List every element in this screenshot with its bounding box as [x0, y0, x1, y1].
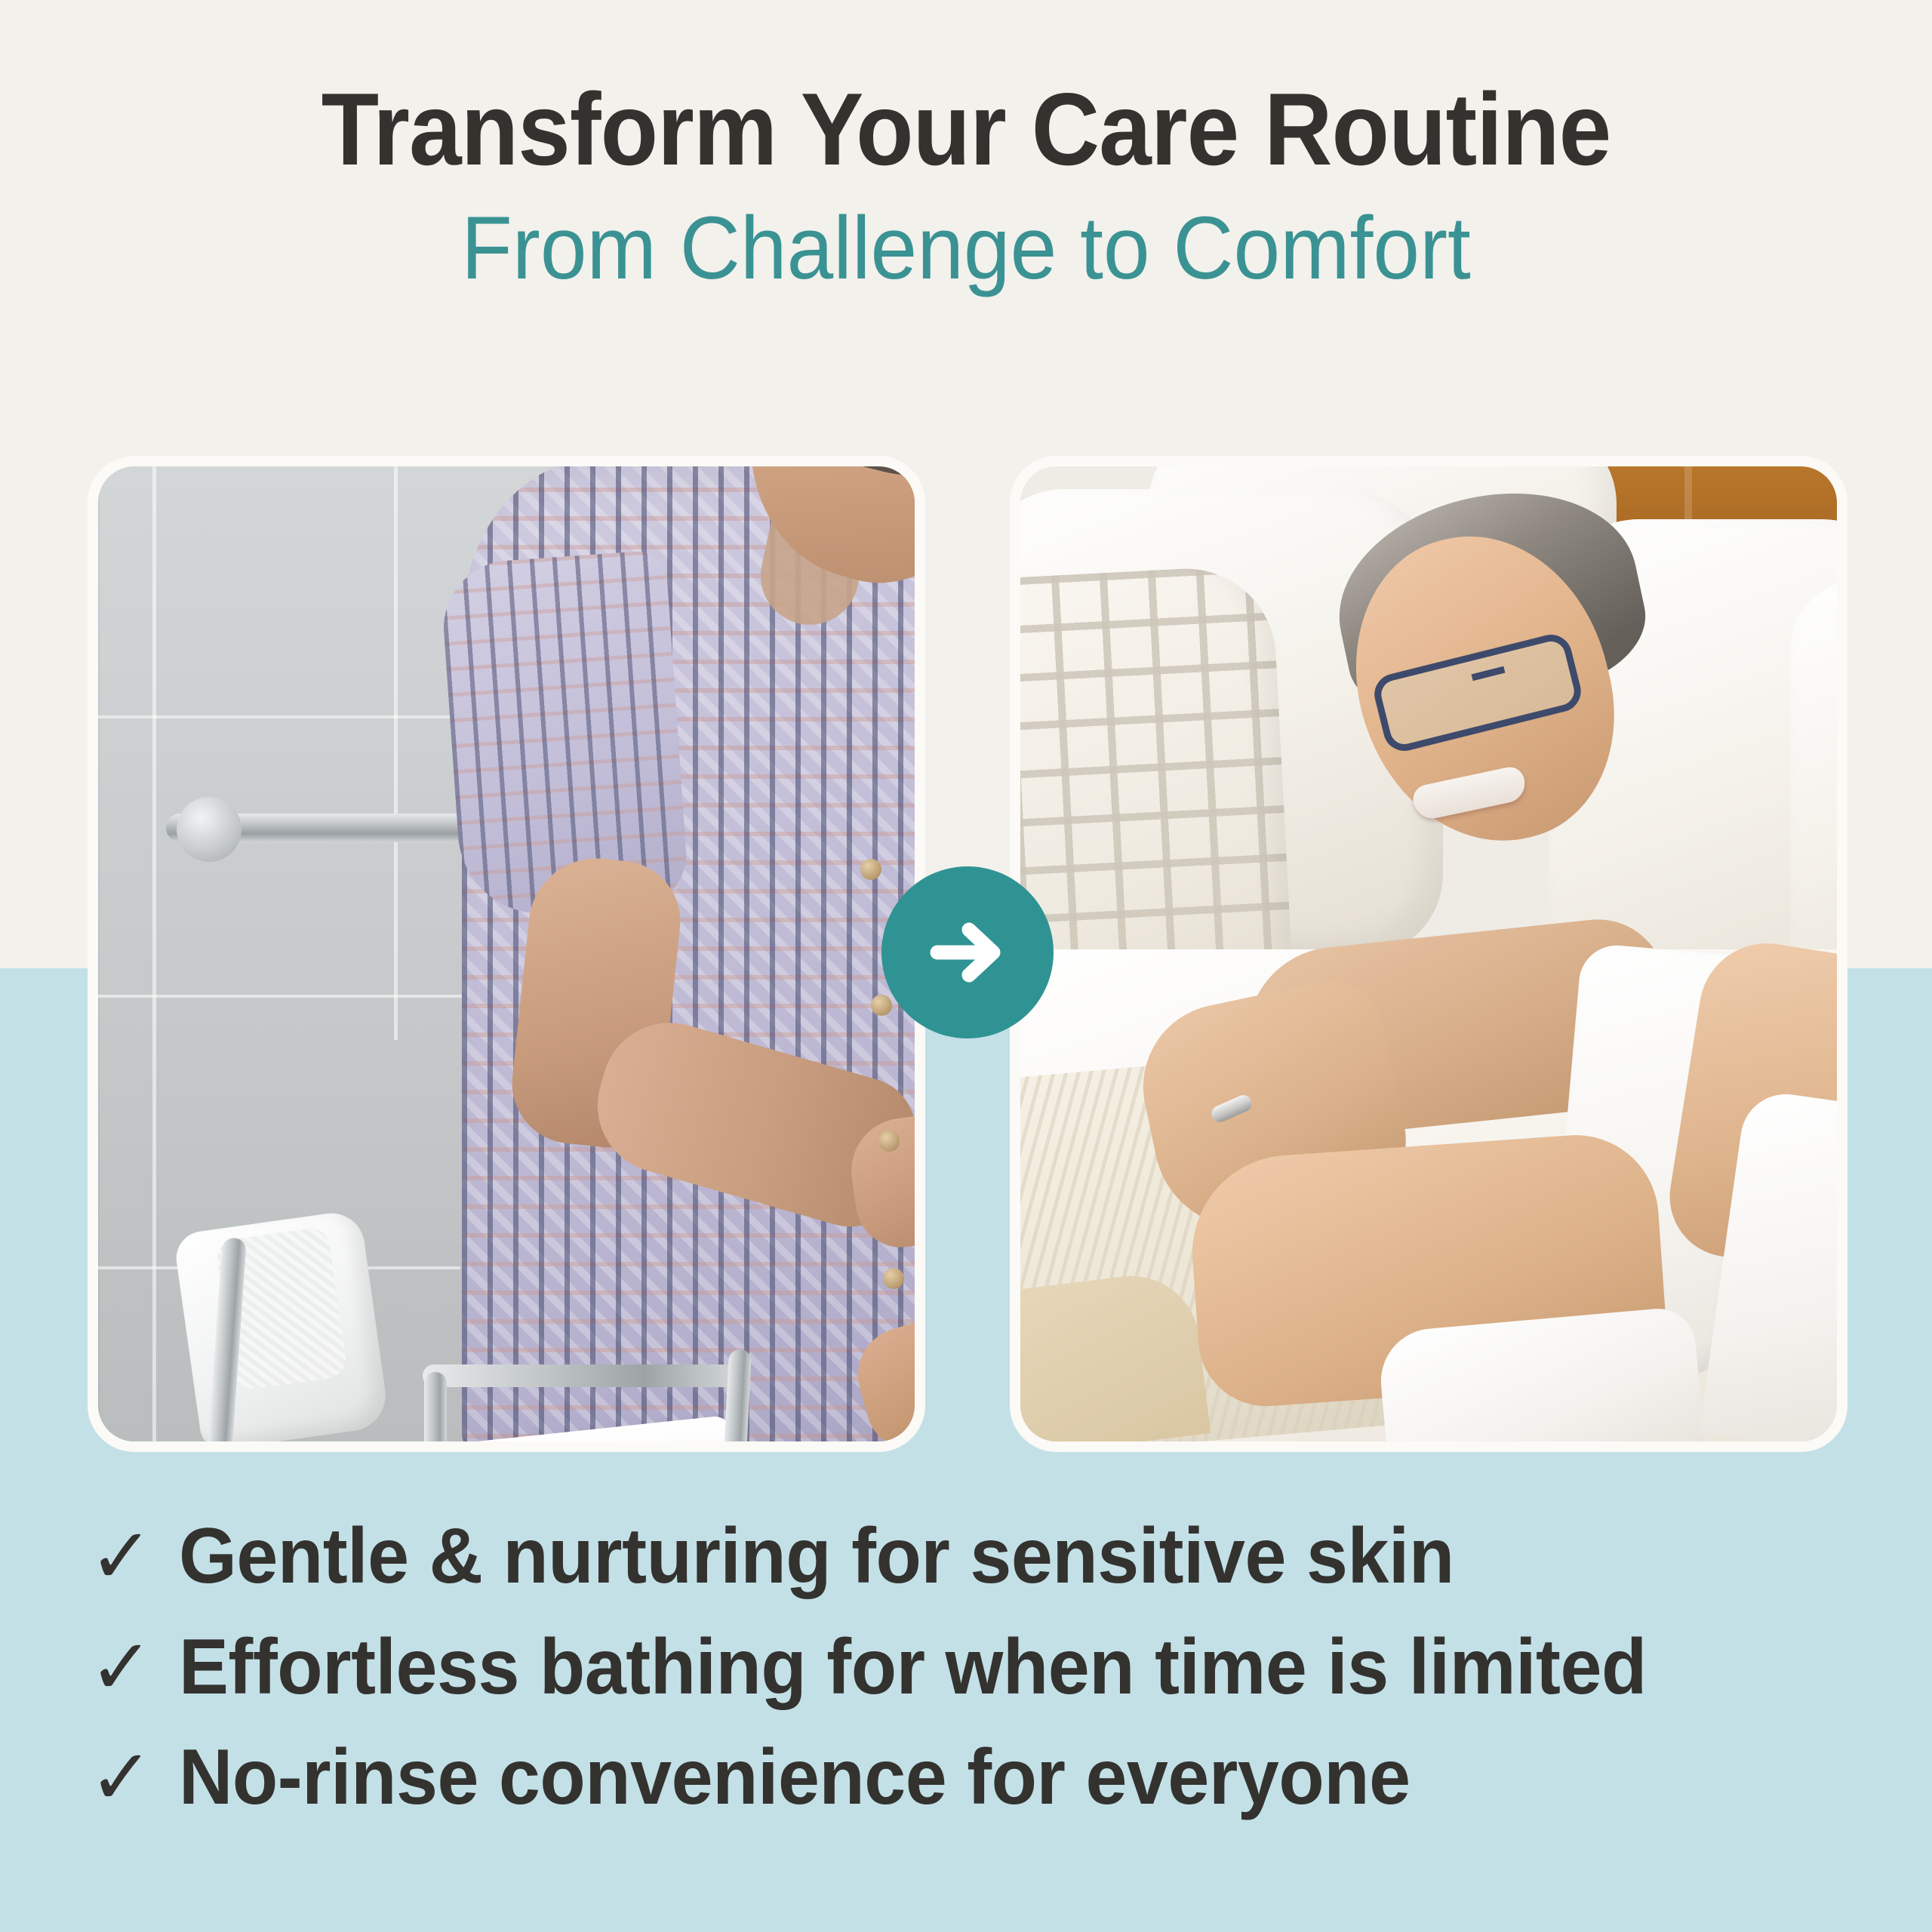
gown-button [878, 1131, 900, 1152]
after-photo-card [1020, 466, 1837, 1441]
page-title: Transform Your Care Routine [77, 75, 1854, 183]
benefit-label: No-rinse convenience for everyone [179, 1732, 1411, 1823]
benefit-label: Gentle & nurturing for sensitive skin [179, 1511, 1454, 1602]
tile-grout-line [152, 466, 156, 1441]
check-icon: ✓ [89, 1629, 153, 1706]
transformation-arrow-badge [881, 866, 1054, 1038]
page-subtitle: From Challenge to Comfort [58, 200, 1874, 298]
headline-block: Transform Your Care Routine From Challen… [0, 75, 1932, 298]
gown-button [860, 859, 881, 880]
after-photo [1020, 466, 1837, 1441]
promo-poster: Transform Your Care Routine From Challen… [0, 0, 1932, 1932]
before-photo [98, 466, 915, 1441]
tile-grout-line [394, 466, 398, 1040]
list-item: ✓ Effortless bathing for when time is li… [89, 1622, 1847, 1713]
gown-button [871, 995, 892, 1016]
before-photo-card [98, 466, 915, 1441]
tile-grout-line [98, 995, 491, 998]
chair-armrest-front-post [424, 1372, 447, 1441]
check-icon: ✓ [89, 1518, 153, 1595]
check-icon: ✓ [89, 1739, 153, 1816]
grab-bar-wall-flange [177, 797, 241, 862]
patient-gown-sleeve [439, 549, 690, 919]
chair-armrest-top [423, 1364, 740, 1387]
gown-button [883, 1268, 904, 1289]
benefit-label: Effortless bathing for when time is limi… [179, 1622, 1647, 1713]
list-item: ✓ No-rinse convenience for everyone [89, 1732, 1847, 1823]
list-item: ✓ Gentle & nurturing for sensitive skin [89, 1511, 1847, 1602]
benefits-list: ✓ Gentle & nurturing for sensitive skin … [89, 1511, 1847, 1843]
arrow-right-icon [919, 904, 1016, 1001]
